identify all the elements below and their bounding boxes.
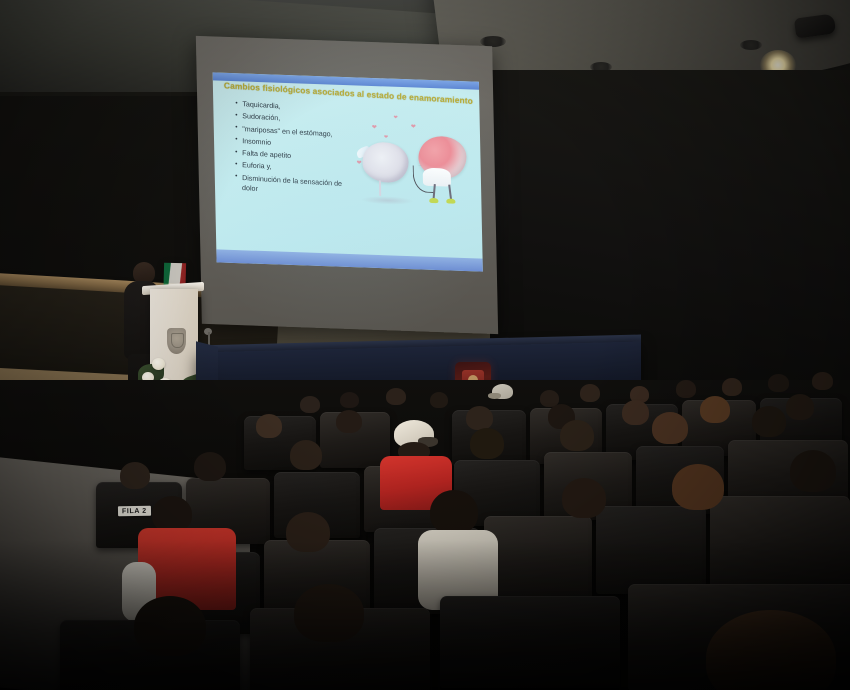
figure-shadow xyxy=(361,195,413,205)
institution-crest-icon xyxy=(167,328,186,354)
head xyxy=(562,478,606,518)
head xyxy=(560,420,594,451)
head xyxy=(470,428,504,459)
auditorium-seat xyxy=(710,496,850,588)
head xyxy=(194,452,226,481)
head xyxy=(652,412,688,444)
head xyxy=(386,388,406,405)
heart-icon: ❤ xyxy=(411,123,416,130)
head xyxy=(812,372,833,390)
head xyxy=(786,394,814,420)
head xyxy=(286,512,330,552)
brain-leg xyxy=(379,180,382,196)
auditorium-seat-foreground xyxy=(440,596,620,688)
brain-shoe xyxy=(446,198,455,203)
heart-icon: ❤ xyxy=(394,115,398,121)
head xyxy=(722,378,742,396)
head xyxy=(622,400,649,425)
stethoscope-icon xyxy=(413,165,435,193)
head xyxy=(300,396,320,413)
head xyxy=(752,406,786,437)
winged-brain-character xyxy=(362,142,409,184)
head xyxy=(134,596,206,656)
head xyxy=(340,392,359,408)
head xyxy=(152,496,192,532)
head xyxy=(294,584,364,642)
presentation-slide: Cambios fisiológicos asociados al estado… xyxy=(213,72,483,271)
white-flower xyxy=(152,358,165,370)
head xyxy=(256,414,282,438)
head xyxy=(768,374,789,392)
recessed-fixture xyxy=(740,40,762,50)
head xyxy=(430,490,478,534)
heart-icon: ❤ xyxy=(372,124,377,131)
projection-screen: Cambios fisiológicos asociados al estado… xyxy=(196,36,498,334)
heart-icon: ❤ xyxy=(356,159,361,166)
head xyxy=(672,464,724,510)
head xyxy=(790,450,836,492)
brain-shoe xyxy=(429,198,438,203)
head xyxy=(700,396,730,423)
slide-artwork: ❤ ❤ ❤ ❤ ❤ ❤ xyxy=(353,107,476,251)
cap-brim xyxy=(488,393,501,399)
slide-bottom-band xyxy=(216,249,483,271)
head xyxy=(580,384,600,402)
auditorium-seat xyxy=(596,506,706,594)
seat-row-label: FILA 2 xyxy=(118,506,151,517)
auditorium-photo: Cambios fisiológicos asociados al estado… xyxy=(0,0,850,690)
heart-icon: ❤ xyxy=(384,134,388,140)
auditorium-seat xyxy=(484,516,592,602)
slide-bullet: Disminución de la sensación de dolor xyxy=(235,172,353,200)
head xyxy=(676,380,696,398)
head xyxy=(466,406,493,430)
head xyxy=(430,392,448,408)
head xyxy=(120,462,150,489)
head xyxy=(336,410,362,433)
slide-bullet-list: Taquicardia, Sudoración, "mariposas" en … xyxy=(235,99,353,202)
head xyxy=(290,440,322,470)
